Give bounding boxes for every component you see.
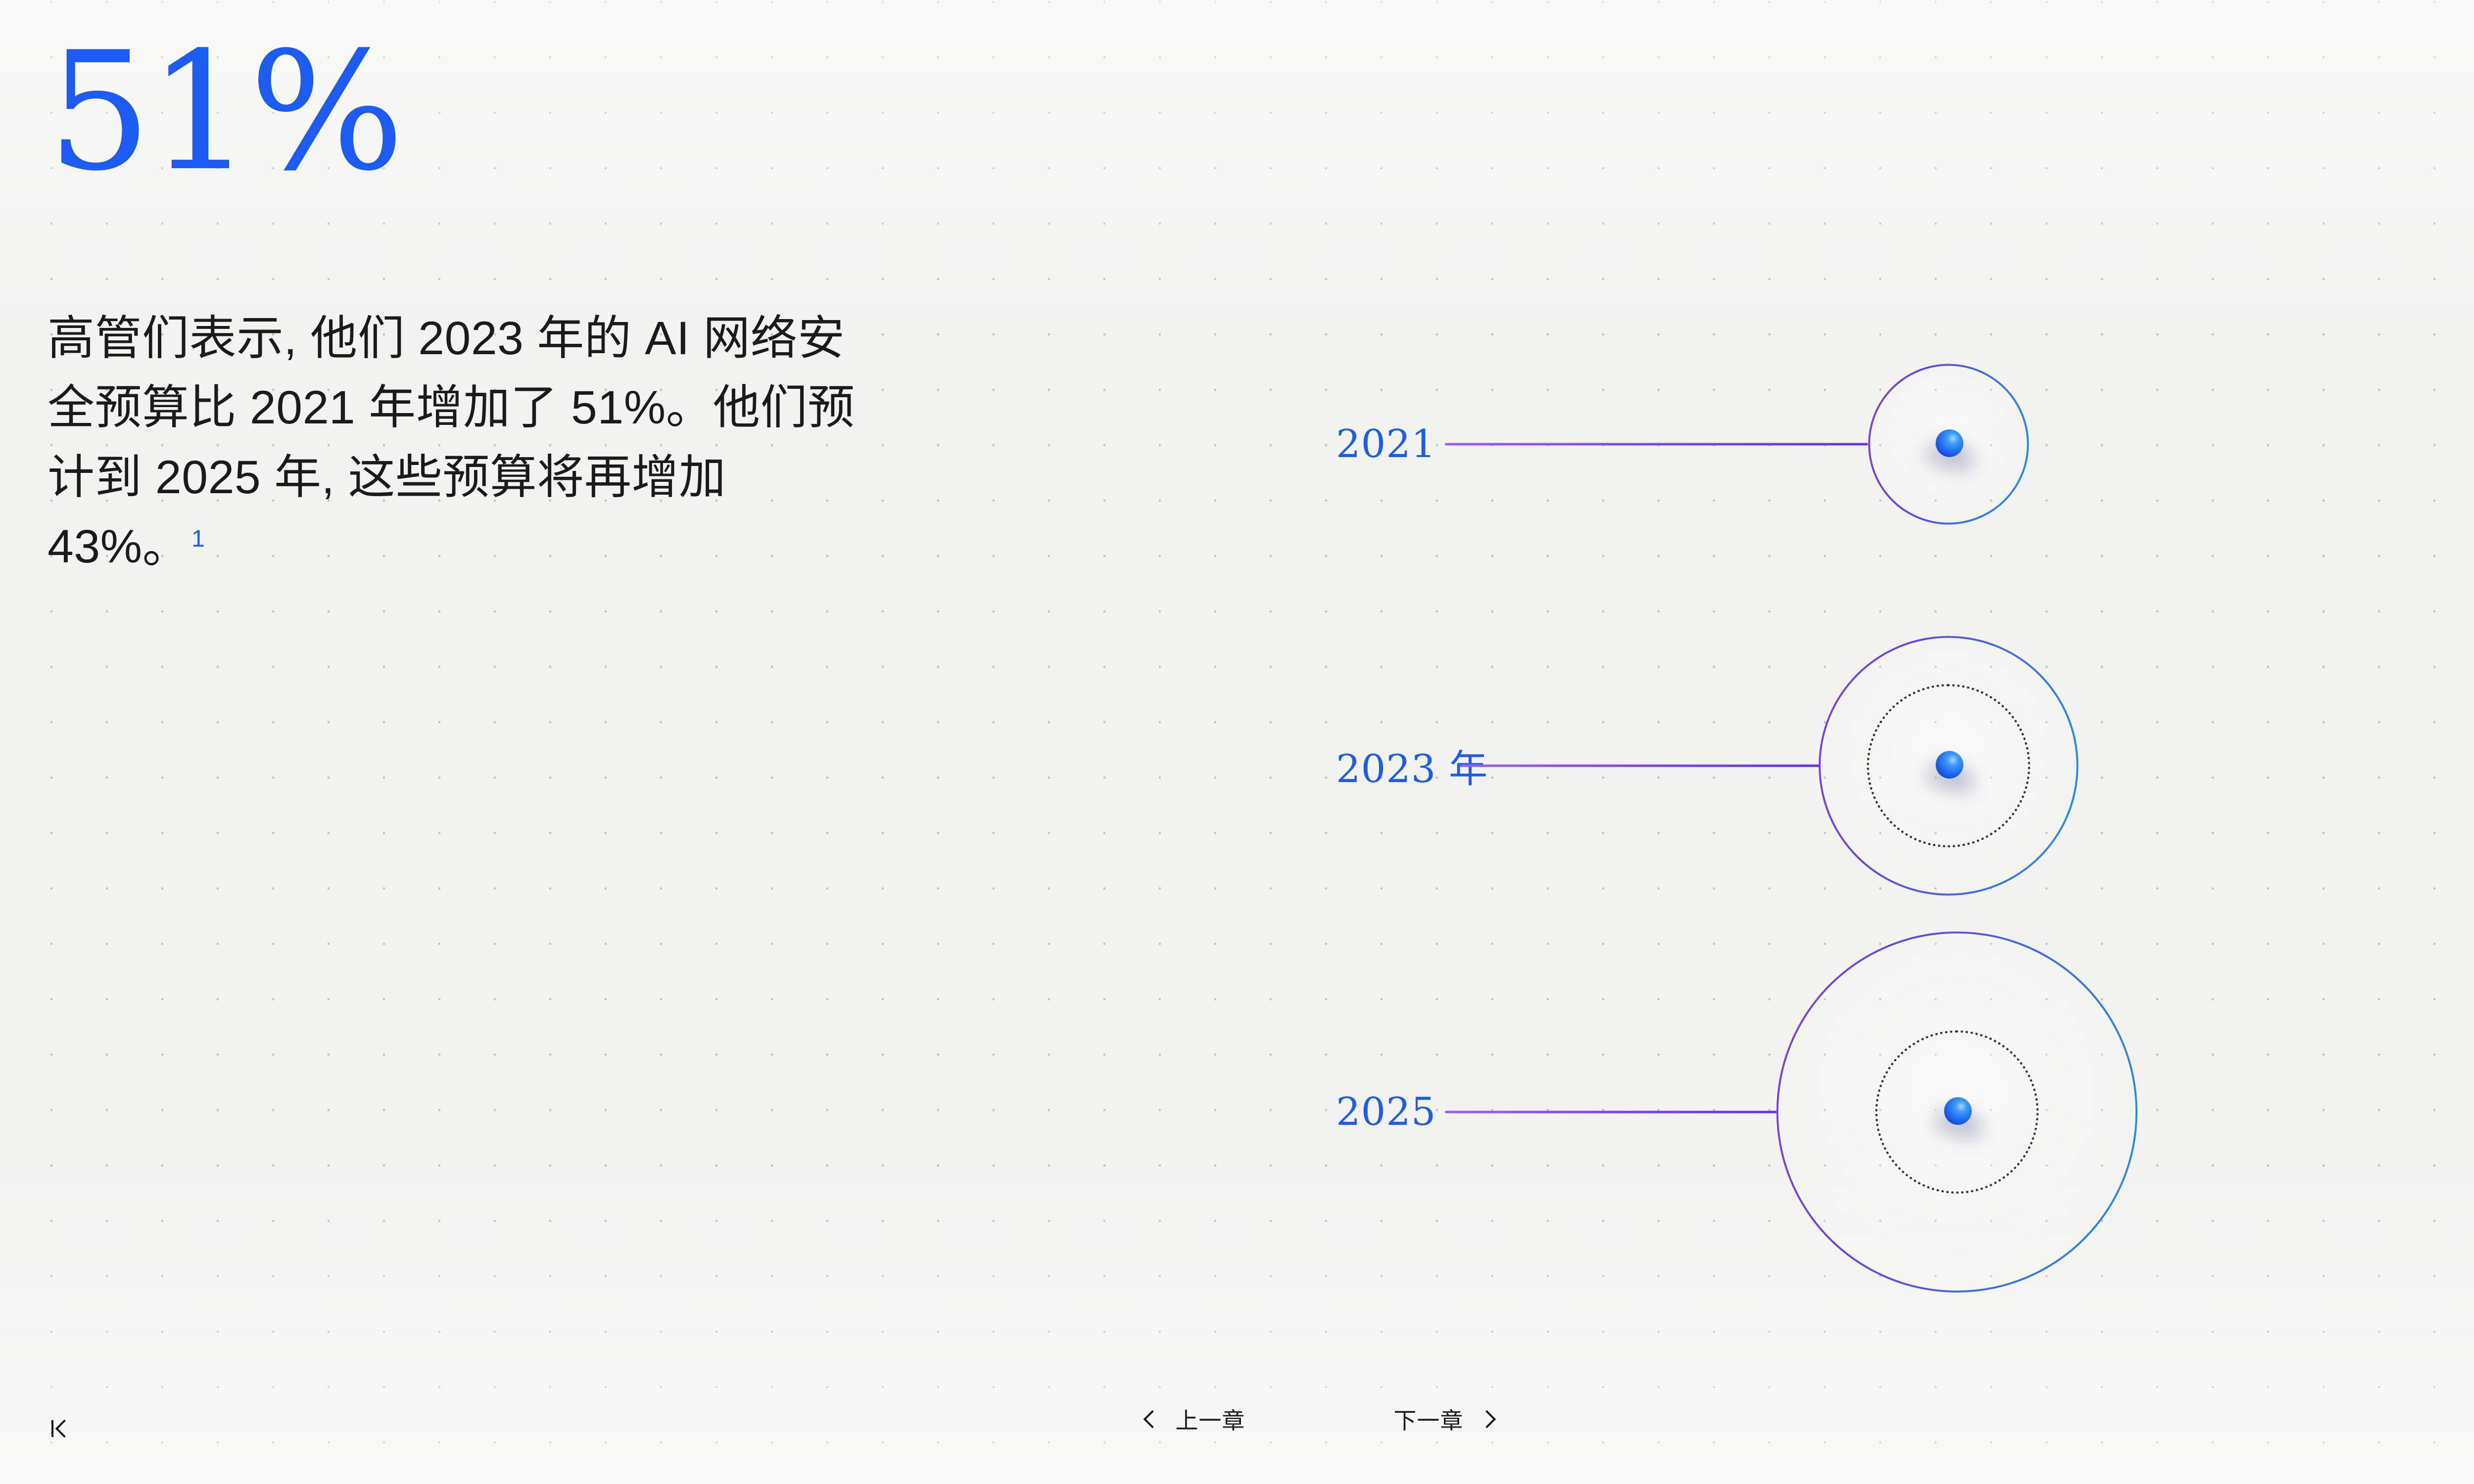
body-paragraph: 高管们表示, 他们 2023 年的 AI 网络安全预算比 2021 年增加了 5… (48, 304, 859, 582)
skip-to-first-icon-bar (51, 1420, 53, 1437)
skip-to-first-icon (55, 1420, 74, 1438)
leader-line-2023 (1460, 765, 1820, 767)
slide-footer: 上一章 下一章 8 (0, 1385, 2474, 1484)
previous-chapter-button[interactable]: 上一章 (1146, 1403, 1245, 1436)
headline-stat: 51% (48, 35, 913, 190)
data-sphere-2021 (1936, 429, 1963, 457)
diagram-label-2025: 2025 (1336, 1090, 1436, 1134)
chevron-left-icon (1143, 1410, 1161, 1429)
data-sphere-2025 (1944, 1097, 1972, 1125)
left-content-column: 51% 高管们表示, 他们 2023 年的 AI 网络安全预算比 2021 年增… (48, 35, 913, 582)
data-sphere-2023 (1936, 751, 1963, 779)
diagram-label-2021: 2021 (1336, 422, 1436, 466)
next-chapter-label: 下一章 (1394, 1403, 1464, 1436)
next-chapter-button[interactable]: 下一章 (1394, 1403, 1493, 1436)
body-paragraph-text: 高管们表示, 他们 2023 年的 AI 网络安全预算比 2021 年增加了 5… (48, 312, 855, 573)
chapter-navigation: 上一章 下一章 (1146, 1403, 1493, 1436)
leader-line-2025 (1445, 1111, 1777, 1113)
previous-chapter-label: 上一章 (1176, 1403, 1245, 1436)
leader-line-2021 (1445, 443, 1868, 446)
bubble-diagram: 2021 2023 年 2025 (1336, 297, 2276, 1336)
slide-canvas: 51% 高管们表示, 他们 2023 年的 AI 网络安全预算比 2021 年增… (0, 0, 2474, 1484)
chevron-right-icon (1477, 1410, 1496, 1429)
skip-to-first-button[interactable] (51, 1420, 71, 1437)
footnote-marker[interactable]: 1 (191, 526, 205, 552)
